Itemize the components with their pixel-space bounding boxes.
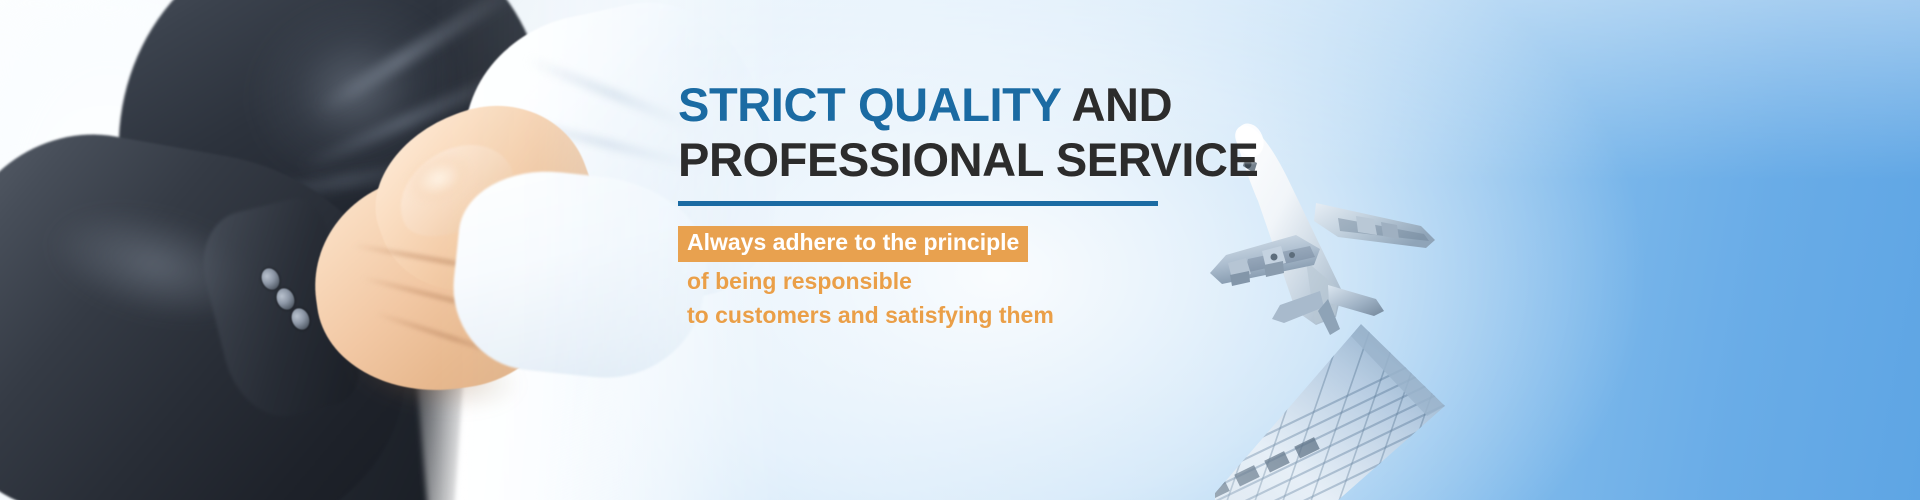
headline-line-1: STRICT QUALITY AND [678,78,1318,133]
subtitle-highlighted-line: Always adhere to the principle [678,226,1028,262]
business-handshake-photo [0,0,790,500]
headline-conjunction-text: AND [1061,78,1173,131]
promo-banner: STRICT QUALITY AND PROFESSIONAL SERVICE … [0,0,1920,500]
subtitle-line-2: of being responsible [678,266,1318,296]
headline-divider-rule [678,201,1158,206]
banner-copy: STRICT QUALITY AND PROFESSIONAL SERVICE … [678,78,1318,331]
headline-accent-text: STRICT QUALITY [678,78,1061,131]
headline-line-2: PROFESSIONAL SERVICE [678,133,1318,188]
subtitle-line-3: to customers and satisfying them [678,300,1318,330]
subtitle-block: Always adhere to the principle of being … [678,226,1318,330]
